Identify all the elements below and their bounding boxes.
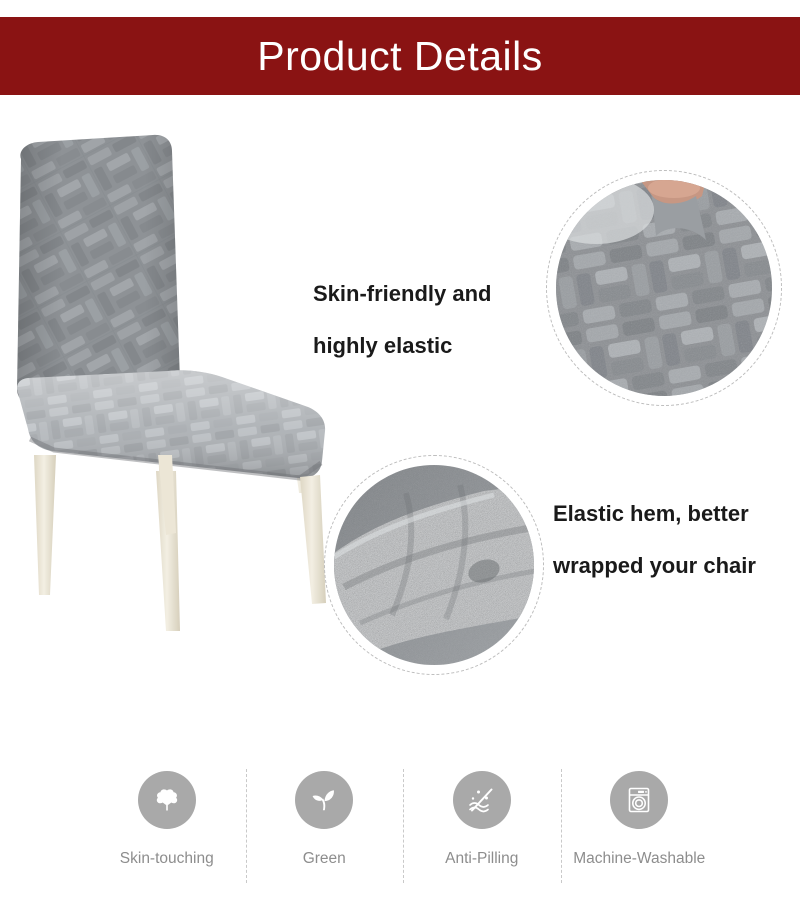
- elastic-hem-closeup-photo: [334, 465, 534, 665]
- cotton-boll-icon: [151, 784, 183, 816]
- feature-icon-wrapper-anti-pilling: [453, 771, 511, 829]
- product-photo-chair-cover: [8, 133, 348, 633]
- feature-icon-wrapper-skin-touching: [138, 771, 196, 829]
- elastic-hem-closeup-inset: [324, 455, 544, 675]
- feature-label-anti-pilling: Anti-Pilling: [445, 850, 518, 868]
- skin-friendly-callout: Skin-friendly and highly elastic: [313, 268, 491, 372]
- feature-icon-wrapper-machine-washable: [610, 771, 668, 829]
- skin-friendly-callout-line1: Skin-friendly and: [313, 268, 491, 320]
- feature-icon-wrapper-green: [295, 771, 353, 829]
- feature-label-green: Green: [303, 850, 346, 868]
- sprout-icon: [308, 784, 340, 816]
- fabric-weave-closeup-photo: [556, 180, 772, 396]
- anti-pilling-icon: [465, 783, 499, 817]
- feature-label-machine-washable: Machine-Washable: [573, 850, 705, 868]
- fabric-weave-closeup-inset: [546, 170, 782, 406]
- washing-machine-icon: [623, 784, 655, 816]
- feature-machine-washable: Machine-Washable: [561, 765, 719, 885]
- elastic-hem-callout-line2: wrapped your chair: [553, 540, 756, 592]
- feature-green: Green: [246, 765, 404, 885]
- skin-friendly-callout-line2: highly elastic: [313, 320, 491, 372]
- page-title: Product Details: [257, 36, 543, 77]
- chair-back-cover: [17, 135, 180, 405]
- feature-anti-pilling: Anti-Pilling: [403, 765, 561, 885]
- elastic-hem-callout: Elastic hem, better wrapped your chair: [553, 488, 756, 592]
- feature-label-skin-touching: Skin-touching: [120, 850, 214, 868]
- feature-strip: Skin-touching Green: [88, 765, 718, 885]
- feature-skin-touching: Skin-touching: [88, 765, 246, 885]
- elastic-hem-callout-line1: Elastic hem, better: [553, 488, 756, 540]
- page-header-banner: Product Details: [0, 17, 800, 95]
